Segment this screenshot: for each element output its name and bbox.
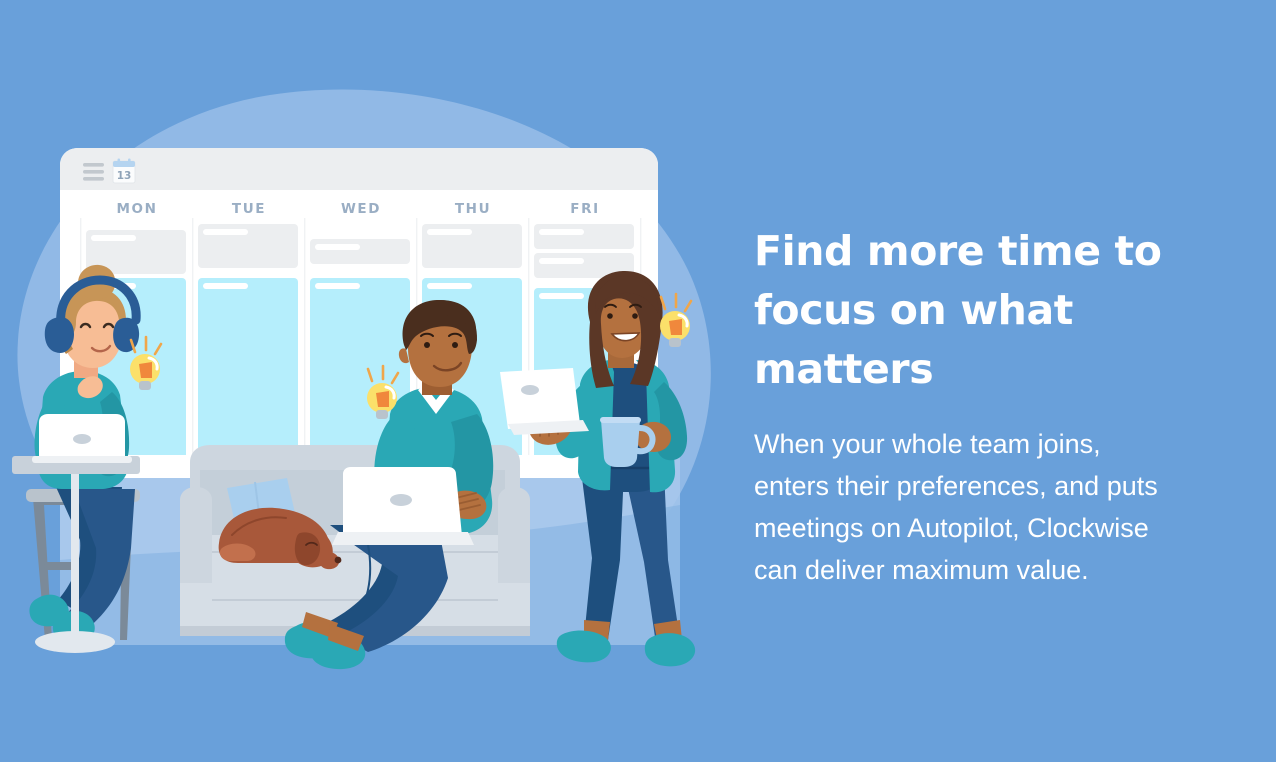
day-label-mon: MON bbox=[116, 201, 157, 217]
dog-nose bbox=[335, 557, 342, 564]
table-foot bbox=[35, 631, 115, 653]
body-line-3: meetings on Autopilot, Clockwise bbox=[754, 507, 1234, 549]
laptop-logo bbox=[521, 385, 539, 395]
event-block[interactable] bbox=[310, 239, 410, 264]
illustration: 13 MON TUE WED THU FRI bbox=[0, 0, 740, 762]
page-title: Find more time to focus on what matters bbox=[754, 222, 1234, 399]
sw-shoe-right bbox=[645, 633, 695, 666]
laptop-left bbox=[32, 414, 132, 463]
event-block-title-bar bbox=[427, 283, 472, 289]
headphones-earcup-left bbox=[45, 317, 74, 353]
event-block-title-bar bbox=[203, 283, 248, 289]
day-label-wed: WED bbox=[341, 201, 381, 217]
mug-body bbox=[601, 420, 640, 467]
event-block-title-bar bbox=[315, 244, 360, 250]
event-block-title-bar bbox=[539, 293, 584, 299]
event-block-title-bar bbox=[203, 229, 248, 235]
marketing-body: When your whole team joins, enters their… bbox=[754, 399, 1234, 591]
body-line-1: When your whole team joins, bbox=[754, 423, 1234, 465]
event-block[interactable] bbox=[534, 224, 634, 249]
marketing-copy: Find more time to focus on what matters … bbox=[754, 222, 1234, 591]
body-line-2: enters their preferences, and puts bbox=[754, 465, 1234, 507]
laptop-logo bbox=[73, 434, 91, 444]
mug-rim bbox=[600, 417, 641, 423]
table-leg bbox=[71, 474, 79, 638]
laptop-base bbox=[32, 456, 132, 463]
calendar-column-tue bbox=[198, 224, 298, 468]
event-block-title-bar bbox=[91, 235, 136, 241]
event-block[interactable] bbox=[198, 278, 298, 468]
laptop-screen bbox=[500, 368, 580, 429]
day-label-fri: FRI bbox=[570, 201, 599, 217]
calendar-toolbar bbox=[60, 148, 658, 190]
day-label-thu: THU bbox=[455, 201, 491, 217]
sw-eye-left bbox=[607, 313, 613, 319]
laptop-base bbox=[332, 532, 474, 545]
event-block-title-bar bbox=[427, 229, 472, 235]
event-block-title-bar bbox=[315, 283, 360, 289]
floor-front bbox=[0, 645, 740, 762]
headphones-earcup-right bbox=[113, 318, 139, 352]
event-block-title-bar bbox=[539, 229, 584, 235]
man-eye-left bbox=[424, 342, 430, 348]
headline-line-1: Find more time to bbox=[754, 227, 1161, 275]
calendar-icon[interactable]: 13 bbox=[113, 159, 135, 184]
marketing-banner: 13 MON TUE WED THU FRI bbox=[0, 0, 1276, 762]
man-eye-right bbox=[452, 342, 458, 348]
day-label-tue: TUE bbox=[232, 201, 266, 217]
laptop-center bbox=[332, 467, 474, 545]
hamburger-menu-icon[interactable] bbox=[83, 163, 104, 181]
event-block-title-bar bbox=[539, 258, 584, 264]
laptop-logo bbox=[390, 494, 412, 506]
headline-line-2: focus on what matters bbox=[754, 286, 1073, 393]
body-line-4: can deliver maximum value. bbox=[754, 549, 1234, 591]
calendar-icon-date: 13 bbox=[117, 170, 132, 182]
sw-eye-right bbox=[632, 313, 638, 319]
